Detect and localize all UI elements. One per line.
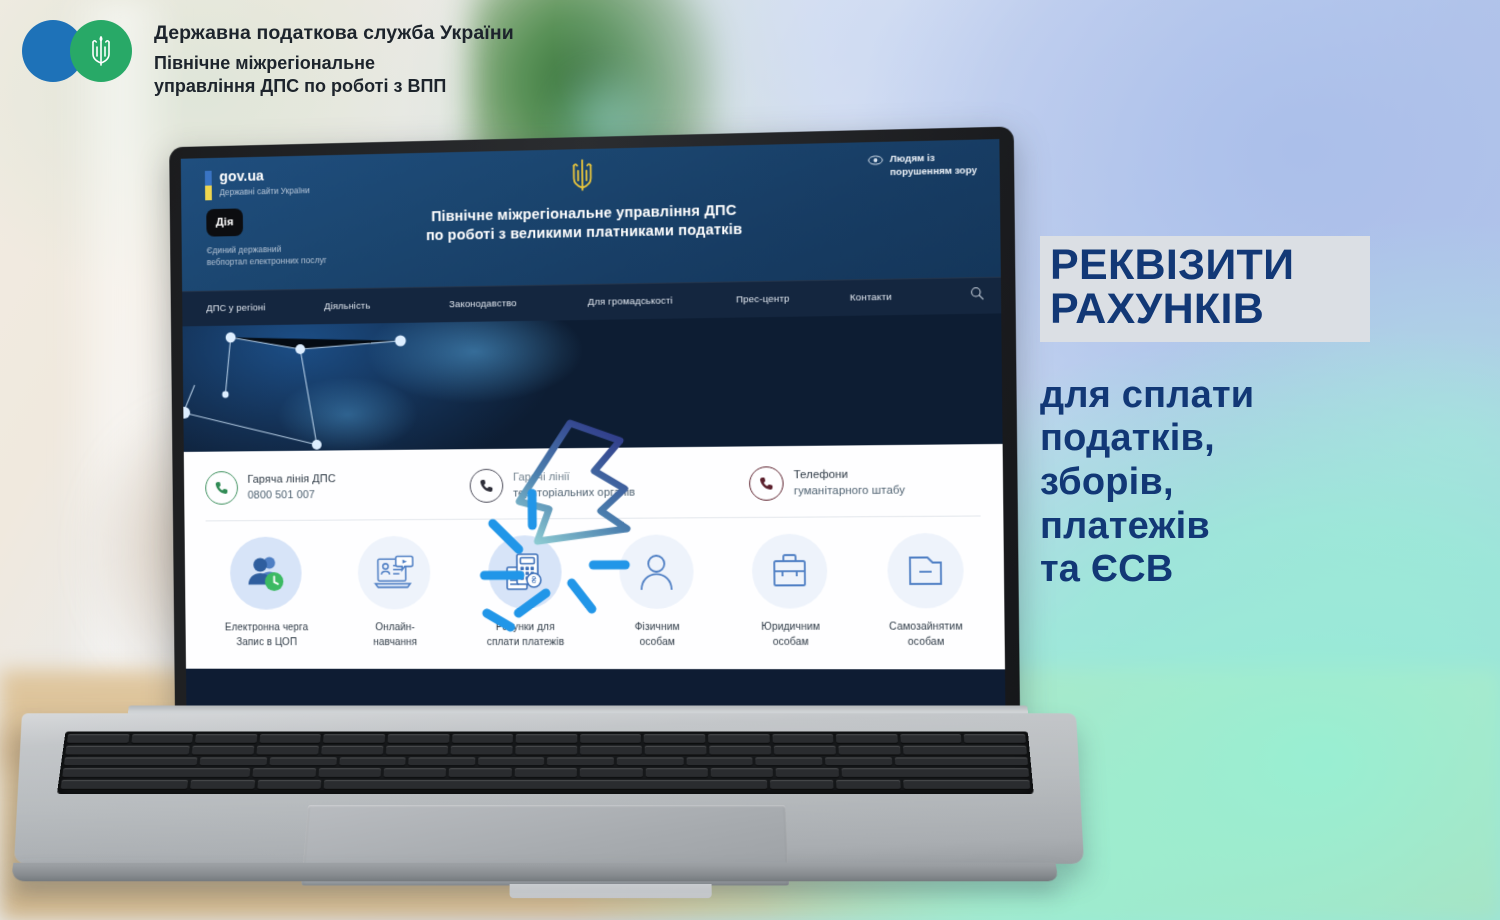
key[interactable] — [195, 734, 257, 743]
tile-legal-entities[interactable]: Юридичним особам — [723, 533, 859, 650]
key[interactable] — [257, 746, 319, 755]
tile-bubble — [619, 534, 694, 609]
brand-line-2a: Північне міжрегіональне — [154, 52, 514, 75]
accessibility-text: Людям із порушенням зору — [890, 152, 977, 180]
key[interactable] — [825, 757, 892, 766]
key[interactable] — [686, 757, 753, 766]
key[interactable] — [903, 780, 1030, 789]
tile-payment-accounts[interactable]: ₴ Рахунки для сплати платежів — [459, 535, 591, 651]
tile-label-line-1: Юридичним — [761, 620, 820, 636]
keyboard-row — [59, 769, 1032, 778]
search-button[interactable] — [970, 286, 985, 306]
key[interactable] — [386, 746, 448, 755]
laptop-base — [14, 713, 1084, 864]
key[interactable] — [131, 734, 193, 743]
network-constellation-graphic — [183, 313, 1003, 452]
phone-ring-green — [205, 471, 238, 505]
promo-body-line-3: зборів, — [1040, 461, 1440, 505]
promo-body-line-1: для сплати — [1040, 374, 1440, 418]
key[interactable] — [200, 757, 267, 766]
ukraine-flag-icon — [205, 171, 212, 201]
site-header: gov.ua Державні сайти України Дія Єдиний… — [181, 139, 1001, 291]
key[interactable] — [478, 757, 545, 766]
site-main: Гаряча лінія ДПС 0800 501 007 — [184, 444, 1005, 669]
tile-bubble — [887, 533, 964, 608]
phone-icon — [214, 480, 230, 496]
key[interactable] — [62, 769, 250, 778]
tile-label-line-2: сплати платежів — [487, 635, 565, 650]
phone-ring-dark — [470, 469, 504, 503]
key[interactable] — [452, 734, 513, 743]
key[interactable] — [617, 757, 684, 766]
key[interactable] — [772, 734, 833, 743]
nav-item-activity[interactable]: Діяльність — [324, 299, 449, 312]
tile-bubble: ₴ — [488, 535, 562, 609]
accessibility-link[interactable]: Людям із порушенням зору — [867, 152, 977, 181]
tile-individuals[interactable]: Фізичним особам — [590, 534, 724, 650]
promo-body-line-2: податків, — [1040, 417, 1440, 461]
phone-icon — [758, 475, 774, 491]
phone-ring-maroon — [749, 466, 784, 501]
tile-label: Онлайн- навчання — [373, 620, 417, 650]
diia-badge-label: Дія — [216, 216, 234, 228]
contact-regional-subtitle: територіальних органів — [513, 485, 635, 502]
contact-hotline-title: Гаряча лінія ДПС — [247, 471, 335, 488]
contact-humanitarian-hq[interactable]: Телефони гуманітарного штабу — [749, 465, 905, 501]
tile-label: Фізичним особам — [635, 620, 680, 651]
promo-panel: РЕКВІЗИТИ РАХУНКІВ для сплати податків, … — [1040, 236, 1480, 592]
keyboard-row — [58, 780, 1034, 789]
key[interactable] — [580, 769, 642, 778]
nav-item-contacts[interactable]: Контакти — [850, 292, 892, 304]
contact-humanitarian-title: Телефони — [794, 466, 905, 483]
tile-bubble — [752, 534, 828, 609]
key[interactable] — [257, 780, 321, 789]
key[interactable] — [192, 746, 255, 755]
tile-self-employed[interactable]: Самозайнятим особам — [857, 533, 994, 651]
contact-humanitarian-subtitle: гуманітарного штабу — [794, 482, 905, 499]
key[interactable] — [384, 769, 447, 778]
laptop-mockup: gov.ua Державні сайти України Дія Єдиний… — [0, 120, 1110, 920]
brand-line-2: Північне міжрегіональне управління ДПС п… — [154, 52, 514, 98]
key[interactable] — [64, 757, 198, 766]
key[interactable] — [836, 734, 898, 743]
key[interactable] — [323, 734, 385, 743]
key[interactable] — [515, 746, 577, 755]
key[interactable] — [65, 746, 189, 755]
tile-label-line-2: особам — [635, 635, 680, 650]
ukraine-trident-icon — [88, 34, 114, 68]
online-learning-icon — [374, 554, 415, 592]
users-clock-icon — [246, 553, 287, 593]
svg-text:₴: ₴ — [531, 575, 536, 585]
key[interactable] — [259, 734, 321, 743]
key[interactable] — [318, 769, 381, 778]
key[interactable] — [770, 780, 834, 789]
key[interactable] — [449, 769, 512, 778]
laptop-keyboard[interactable] — [57, 731, 1034, 794]
key[interactable] — [841, 769, 1029, 778]
tile-label: Електронна черга Запис в ЦОП — [225, 620, 308, 650]
brand-text: Державна податкова служба України Північ… — [154, 14, 514, 98]
laptop-lid: gov.ua Державні сайти України Дія Єдиний… — [169, 126, 1020, 728]
tile-label: Юридичним особам — [761, 620, 820, 651]
gov-ua-title: gov.ua — [219, 168, 309, 185]
key[interactable] — [516, 734, 577, 743]
hero-banner — [183, 313, 1003, 452]
laptop-base-edge — [11, 863, 1059, 882]
service-tiles: Електронна черга Запис в ЦОП — [184, 516, 1005, 669]
key[interactable] — [580, 746, 642, 755]
header-trident-emblem — [568, 157, 596, 199]
contact-regional-hotlines[interactable]: Гарячі лінії територіальних органів — [470, 467, 750, 503]
key[interactable] — [709, 746, 771, 755]
contact-hotline-number: 0800 501 007 — [248, 487, 336, 504]
folder-minus-icon — [905, 551, 947, 590]
tile-label-line-2: особам — [761, 635, 820, 650]
key[interactable] — [964, 734, 1026, 743]
laptop-front-notch — [510, 884, 712, 898]
diia-badge[interactable]: Дія — [206, 208, 243, 236]
promo-body-line-5: та ЄСВ — [1040, 548, 1440, 592]
keyboard-row — [64, 734, 1029, 743]
brand-line-1: Державна податкова служба України — [154, 22, 514, 45]
tile-label-line-1: Рахунки для — [487, 620, 565, 635]
promo-heading-line-1: РЕКВІЗИТИ — [1050, 244, 1358, 288]
key[interactable] — [580, 734, 641, 743]
key[interactable] — [756, 757, 823, 766]
key[interactable] — [837, 780, 901, 789]
spacebar-key[interactable] — [323, 780, 767, 789]
tile-electronic-queue[interactable]: Електронна черга Запис в ЦОП — [202, 536, 331, 650]
site-title: Північне міжрегіональне управління ДПС п… — [327, 199, 845, 248]
nav-item-press-center[interactable]: Прес-центр — [736, 293, 850, 306]
contact-hotline-dps[interactable]: Гаряча лінія ДПС 0800 501 007 — [205, 469, 470, 505]
key[interactable] — [645, 746, 707, 755]
brand-header: Державна податкова служба України Північ… — [0, 0, 514, 98]
key[interactable] — [838, 746, 900, 755]
nav-item-public[interactable]: Для громадськості — [588, 294, 737, 308]
laptop-screen: gov.ua Державні сайти України Дія Єдиний… — [181, 139, 1006, 714]
key[interactable] — [774, 746, 836, 755]
ukraine-trident-icon — [568, 157, 596, 194]
nav-item-region[interactable]: ДПС у регіоні — [206, 301, 324, 314]
key[interactable] — [339, 757, 406, 766]
website-page: gov.ua Державні сайти України Дія Єдиний… — [181, 139, 1006, 714]
nav-item-legislation[interactable]: Законодавство — [449, 297, 588, 310]
key[interactable] — [61, 780, 189, 789]
tile-label: Самозайнятим особам — [889, 619, 963, 650]
person-icon — [636, 552, 677, 592]
contact-regional-title: Гарячі лінії — [513, 468, 635, 485]
key[interactable] — [711, 769, 774, 778]
tile-label-line-2: Запис в ЦОП — [225, 636, 308, 651]
diia-subtitle-line-2: вебпортал електронних послуг — [207, 254, 327, 268]
key[interactable] — [547, 757, 614, 766]
key[interactable] — [408, 757, 475, 766]
key[interactable] — [191, 780, 255, 789]
key[interactable] — [776, 769, 839, 778]
key[interactable] — [451, 746, 513, 755]
promo-body: для сплати податків, зборів, платежів та… — [1040, 374, 1440, 592]
eye-accessibility-icon — [867, 154, 882, 167]
gov-ua-block[interactable]: gov.ua Державні сайти України — [205, 168, 310, 200]
promo-heading: РЕКВІЗИТИ РАХУНКІВ — [1040, 236, 1370, 342]
key[interactable] — [644, 734, 705, 743]
logo-green-circle — [70, 20, 132, 82]
tile-label-line-1: Онлайн- — [373, 620, 417, 635]
key[interactable] — [388, 734, 450, 743]
key[interactable] — [321, 746, 383, 755]
invoice-payment-icon: ₴ — [503, 551, 547, 593]
tile-label-line-1: Самозайнятим — [889, 619, 963, 635]
key[interactable] — [67, 734, 129, 743]
tile-online-learning[interactable]: Онлайн- навчання — [330, 536, 461, 651]
phone-icon — [478, 478, 494, 494]
tile-label-line-1: Електронна черга — [225, 620, 308, 635]
key[interactable] — [269, 757, 336, 766]
promo-heading-line-2: РАХУНКІВ — [1050, 288, 1358, 332]
gov-ua-subtitle: Державні сайти України — [219, 185, 309, 197]
key[interactable] — [894, 757, 1028, 766]
tile-label-line-2: навчання — [373, 635, 417, 650]
search-icon — [970, 286, 985, 301]
promo-body-line-4: платежів — [1040, 505, 1440, 549]
keyboard-row — [62, 746, 1030, 755]
tile-label-line-2: особам — [889, 635, 963, 651]
accessibility-line-2: порушенням зору — [890, 165, 977, 180]
tile-bubble — [230, 537, 302, 610]
key[interactable] — [514, 769, 577, 778]
tile-bubble — [358, 536, 431, 610]
key[interactable] — [900, 734, 962, 743]
tile-label-line-1: Фізичним — [635, 620, 680, 635]
brand-logo — [22, 14, 154, 86]
keyboard-row — [61, 757, 1031, 766]
key[interactable] — [253, 769, 316, 778]
tile-label: Рахунки для сплати платежів — [487, 620, 565, 651]
key[interactable] — [708, 734, 769, 743]
briefcase-icon — [770, 552, 811, 591]
brand-line-2b: управління ДПС по роботі з ВПП — [154, 75, 514, 98]
contact-row: Гаряча лінія ДПС 0800 501 007 — [184, 444, 1004, 519]
key[interactable] — [645, 769, 707, 778]
nav-spacer — [892, 296, 956, 297]
diia-subtitle: Єдиний державний вебпортал електронних п… — [207, 242, 327, 268]
key[interactable] — [903, 746, 1027, 755]
